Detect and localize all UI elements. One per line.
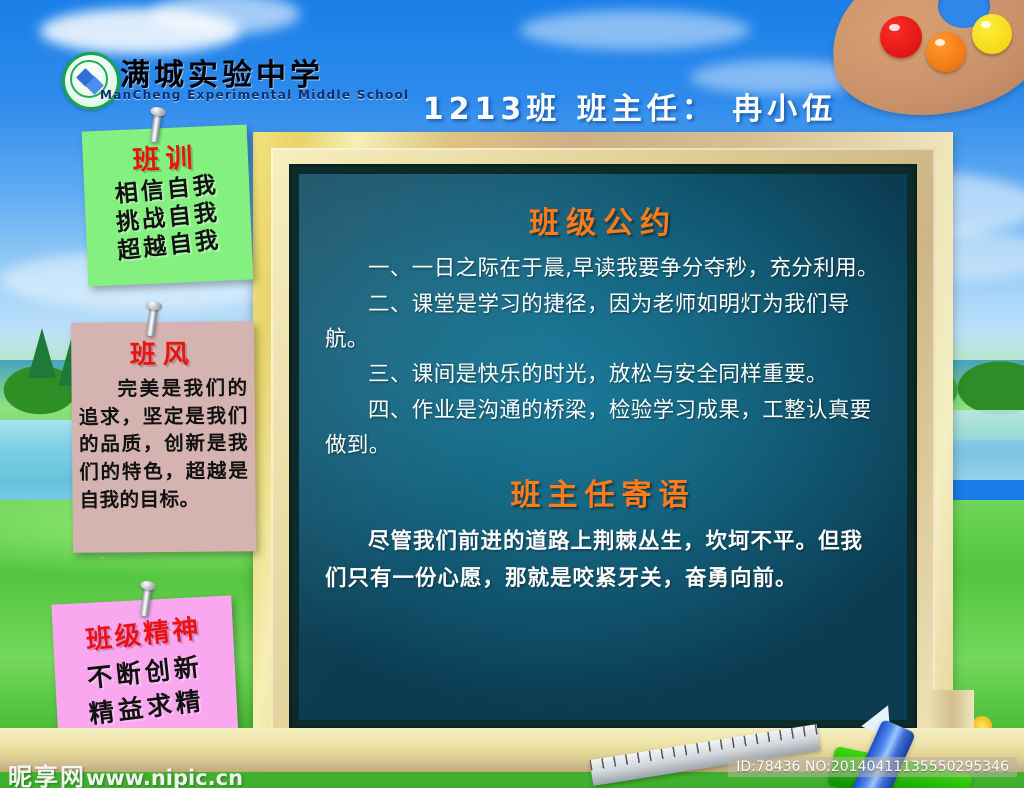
- conifer-icon: [28, 328, 56, 378]
- cloud-decoration: [520, 10, 750, 50]
- note-card-class-style[interactable]: 班风 完美是我们的追求，坚定是我们的品质，创新是我们的特色，超越是自我的目标。: [71, 321, 256, 553]
- school-name-en: ManCheng Experimental Middle School: [100, 88, 409, 102]
- paint-blob-orange-icon: [926, 32, 966, 72]
- watermark-cn: 昵享网: [8, 763, 86, 788]
- board-rule-item: 二、课堂是学习的捷径，因为老师如明灯为我们导航。: [325, 288, 881, 358]
- image-id-badge: ID:78436 NO:20140411135550295346: [728, 757, 1017, 777]
- blackboard: 班级公约 一、一日之际在于晨,早读我要争分夺秒，充分利用。 二、课堂是学习的捷径…: [253, 132, 953, 762]
- board-rule-item: 四、作业是沟通的桥梁，检验学习成果，工整认真要做到。: [325, 394, 881, 464]
- site-watermark: 昵享网www.nipic.cn: [8, 757, 243, 788]
- board-rule-item: 一、一日之际在于晨,早读我要争分夺秒，充分利用。: [325, 252, 881, 287]
- paint-blob-red-icon: [880, 16, 922, 58]
- note-card-class-motto[interactable]: 班训 相信自我 挑战自我 超越自我: [82, 124, 254, 286]
- board-content: 班级公约 一、一日之际在于晨,早读我要争分夺秒，充分利用。 二、课堂是学习的捷径…: [299, 174, 907, 720]
- note-title-class-style: 班风: [71, 321, 254, 372]
- note-card-class-spirit[interactable]: 班级精神 不断创新 精益求精: [51, 595, 238, 747]
- page-title: 1213班 班主任： 冉小伍: [390, 84, 870, 128]
- poster-canvas: 满城实验中学 ManCheng Experimental Middle Scho…: [0, 0, 1024, 788]
- board-teacher-message: 尽管我们前进的道路上荆棘丛生，坎坷不平。但我们只有一份心愿，那就是咬紧牙关，奋勇…: [325, 524, 881, 597]
- board-section1-heading: 班级公约: [325, 198, 881, 242]
- board-surface: 班级公约 一、一日之际在于晨,早读我要争分夺秒，充分利用。 二、课堂是学习的捷径…: [299, 174, 907, 720]
- board-section2-heading: 班主任寄语: [325, 470, 881, 514]
- paint-blob-yellow-icon: [972, 14, 1012, 54]
- board-rule-item: 三、课间是快乐的时光，放松与安全同样重要。: [325, 358, 881, 393]
- note-body-class-style: 完美是我们的追求，坚定是我们的品质，创新是我们的特色，超越是自我的目标。: [71, 370, 255, 514]
- watermark-url: www.nipic.cn: [86, 766, 243, 788]
